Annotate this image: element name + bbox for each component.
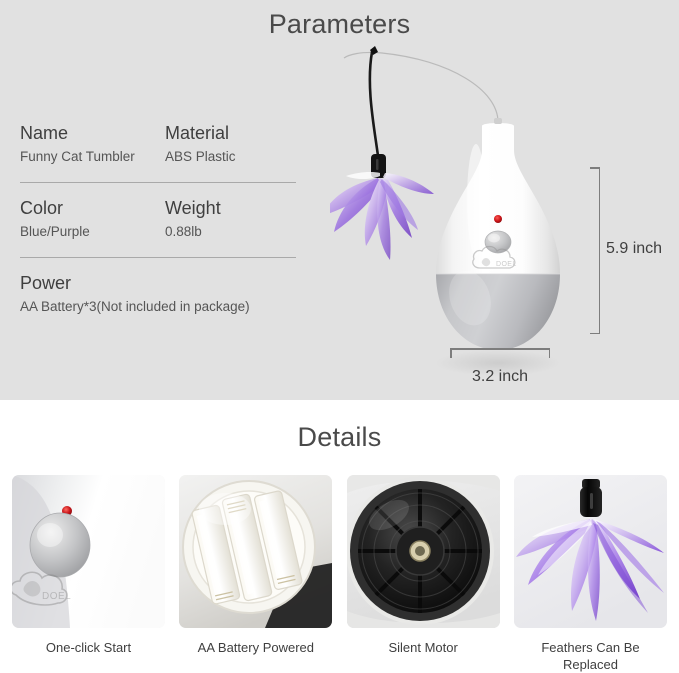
spec-row-name-material: Name Funny Cat Tumbler Material ABS Plas… bbox=[20, 122, 310, 167]
spec-value-power: AA Battery*3(Not included in package) bbox=[20, 297, 310, 317]
svg-text:DOEL: DOEL bbox=[42, 591, 71, 602]
spec-label-color: Color bbox=[20, 197, 165, 219]
details-heading: Details bbox=[0, 422, 679, 453]
detail-card-aa-battery[interactable]: AA Battery Powered bbox=[179, 475, 332, 673]
detail-caption-one-click-start: One-click Start bbox=[12, 639, 165, 656]
detail-caption-silent-motor: Silent Motor bbox=[347, 639, 500, 656]
detail-card-feathers[interactable]: Feathers Can Be Replaced bbox=[514, 475, 667, 673]
height-dimension-label: 5.9 inch bbox=[606, 240, 662, 258]
details-section: Details bbox=[0, 400, 679, 673]
detail-caption-feathers: Feathers Can Be Replaced bbox=[514, 639, 667, 673]
detail-card-one-click-start[interactable]: DOEL One-click Start bbox=[12, 475, 165, 673]
spec-value-color: Blue/Purple bbox=[20, 222, 165, 242]
spec-label-name: Name bbox=[20, 122, 165, 144]
svg-text:DOEL: DOEL bbox=[496, 261, 517, 268]
wire-connector bbox=[494, 118, 502, 124]
spec-cell-material: Material ABS Plastic bbox=[165, 122, 310, 167]
spec-label-power: Power bbox=[20, 272, 310, 294]
spec-row-power: Power AA Battery*3(Not included in packa… bbox=[20, 272, 310, 317]
spec-value-name: Funny Cat Tumbler bbox=[20, 147, 165, 167]
spec-divider-2 bbox=[20, 257, 296, 258]
motor-assembly-photo bbox=[347, 475, 500, 628]
spec-cell-color: Color Blue/Purple bbox=[20, 197, 165, 242]
one-click-start-photo: DOEL bbox=[12, 475, 165, 628]
specs-table: Name Funny Cat Tumbler Material ABS Plas… bbox=[20, 122, 310, 317]
parameters-section: Parameters Name Funny Cat Tumbler Materi… bbox=[0, 0, 679, 400]
feather-cord bbox=[370, 52, 378, 156]
feather-clip-highlight bbox=[376, 159, 379, 170]
wire-arc bbox=[344, 52, 498, 122]
battery-compartment-photo bbox=[179, 475, 332, 628]
width-dimension-label: 3.2 inch bbox=[450, 368, 550, 386]
spec-cell-name: Name Funny Cat Tumbler bbox=[20, 122, 165, 167]
feather-toy bbox=[330, 154, 434, 260]
power-button-closeup bbox=[30, 513, 90, 577]
product-infographic: Parameters Name Funny Cat Tumbler Materi… bbox=[0, 0, 679, 673]
spec-row-color-weight: Color Blue/Purple Weight 0.88lb bbox=[20, 197, 310, 242]
height-dimension-bracket bbox=[590, 167, 600, 334]
spec-label-weight: Weight bbox=[165, 197, 310, 219]
spec-label-material: Material bbox=[165, 122, 310, 144]
width-dimension-bracket bbox=[450, 348, 550, 358]
spec-value-material: ABS Plastic bbox=[165, 147, 310, 167]
spec-value-weight: 0.88lb bbox=[165, 222, 310, 242]
feather-attachment-photo bbox=[514, 475, 667, 628]
led-indicator bbox=[494, 215, 502, 223]
spec-divider-1 bbox=[20, 182, 296, 183]
product-photo: DOEL bbox=[330, 30, 610, 390]
details-thumbnail-grid: DOEL One-click Start bbox=[0, 475, 679, 673]
feather-plumes bbox=[330, 172, 434, 260]
detail-caption-aa-battery: AA Battery Powered bbox=[179, 639, 332, 656]
spec-cell-power: Power AA Battery*3(Not included in packa… bbox=[20, 272, 310, 317]
spec-cell-weight: Weight 0.88lb bbox=[165, 197, 310, 242]
detail-card-silent-motor[interactable]: Silent Motor bbox=[347, 475, 500, 673]
